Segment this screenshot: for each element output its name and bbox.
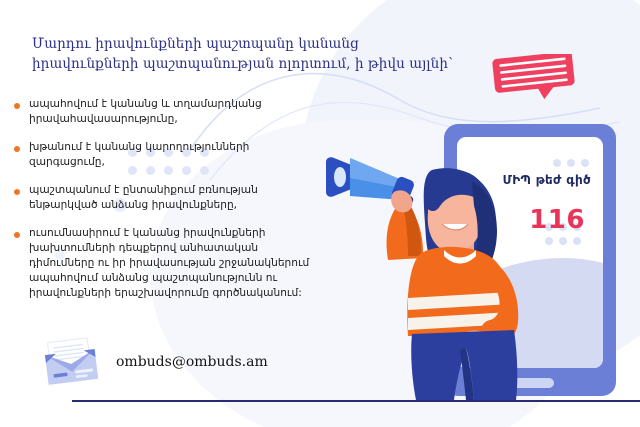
list-item: ապահովում է կանանց և տղամարդկանց իրավահա…	[14, 97, 324, 127]
bullet-list: ապահովում է կանանց և տղամարդկանց իրավահա…	[14, 97, 324, 314]
list-item: պաշտպանում է ընտանիքում բռնության ենթարկ…	[14, 183, 324, 213]
list-item: խթանում է կանանց կարողությունների զարգաց…	[14, 140, 324, 170]
list-item-text: խթանում է կանանց կարողությունների զարգաց…	[29, 140, 324, 170]
list-item-text: ապահովում է կանանց և տղամարդկանց իրավահա…	[29, 97, 324, 127]
speech-bubble-icon	[492, 54, 578, 100]
list-item: ուսումնասիրում է կանանց իրավունքների խախ…	[14, 226, 324, 301]
bullet-dot-icon	[14, 189, 20, 195]
email-address[interactable]: ombuds@ombuds.am	[116, 354, 268, 370]
bullet-dot-icon	[14, 146, 20, 152]
poster-canvas: Մարդու իրավունքների պաշտպանը կանանց իրավ…	[0, 0, 640, 427]
list-item-text: ուսումնասիրում է կանանց իրավունքների խախ…	[29, 226, 324, 301]
footer-divider	[72, 400, 640, 402]
dot-grid-upper-icon	[553, 159, 589, 167]
page-title: Մարդու իրավունքների պաշտպանը կանանց իրավ…	[32, 34, 462, 75]
envelope-icon	[37, 334, 104, 389]
email-contact-row: ombuds@ombuds.am	[40, 338, 268, 386]
bullet-dot-icon	[14, 232, 20, 238]
bullet-dot-icon	[14, 103, 20, 109]
woman-with-megaphone-illustration	[324, 136, 534, 400]
list-item-text: պաշտպանում է ընտանիքում բռնության ենթարկ…	[29, 183, 324, 213]
hotline-number: 116	[529, 205, 585, 235]
